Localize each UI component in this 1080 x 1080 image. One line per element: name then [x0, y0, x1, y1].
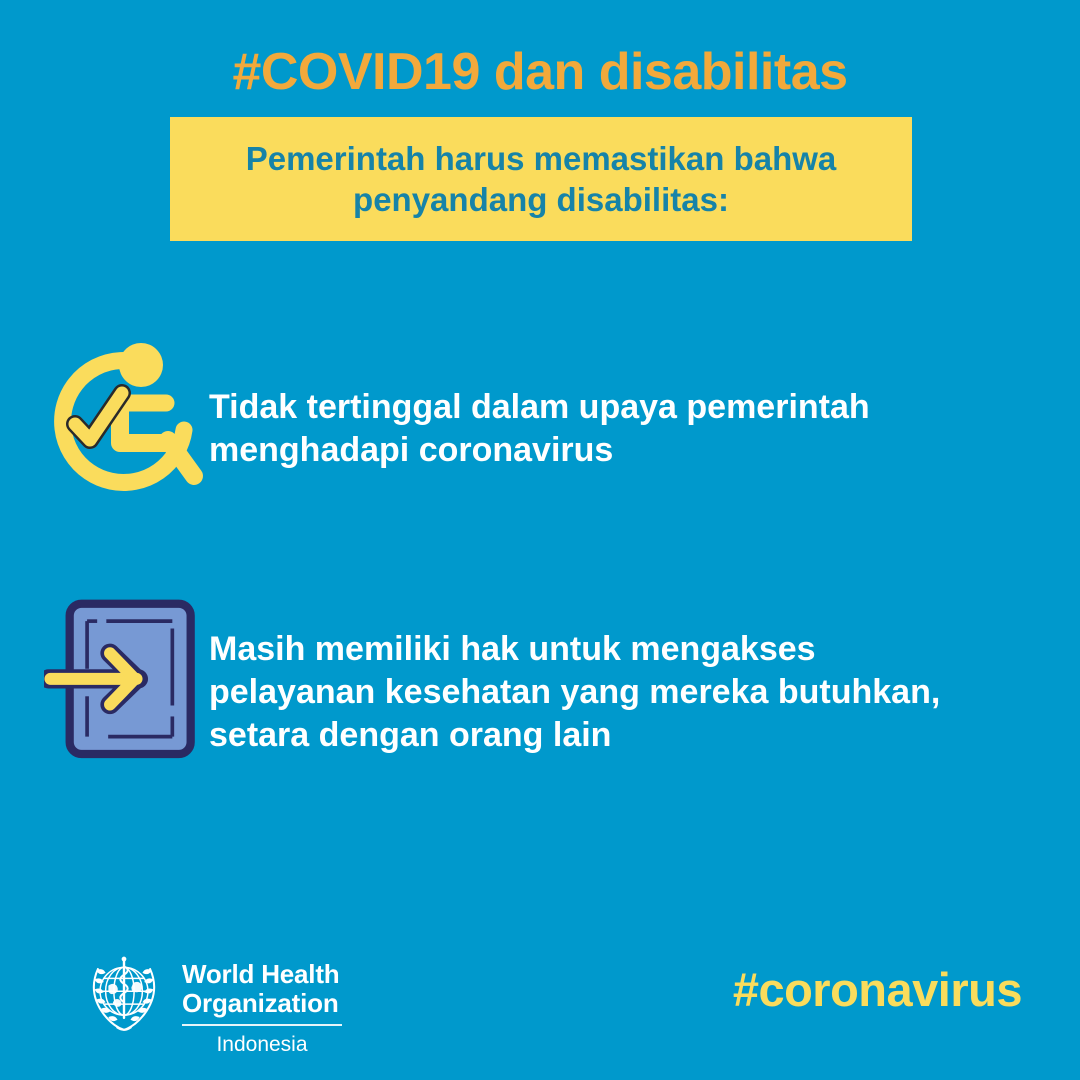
banner-line-2: penyandang disabilitas:: [353, 181, 729, 218]
page-title: #COVID19 dan disabilitas: [0, 40, 1080, 104]
bullet-1-line-1: Tidak tertinggal dalam upaya pemerintah: [209, 386, 870, 429]
who-logo-divider: [182, 1024, 342, 1026]
bullet-2-line-3: setara dengan orang lain: [209, 714, 940, 757]
door-entry-arrow-icon: [44, 580, 209, 775]
wheelchair-check-icon: [44, 340, 209, 495]
bullet-point-1: Tidak tertinggal dalam upaya pemerintah …: [44, 340, 1044, 495]
banner-line-1: Pemerintah harus memastikan bahwa: [246, 140, 837, 177]
subtitle-banner: Pemerintah harus memastikan bahwa penyan…: [170, 117, 912, 241]
bullet-1-line-2: menghadapi coronavirus: [209, 429, 870, 472]
infographic-poster: #COVID19 dan disabilitas Pemerintah haru…: [0, 0, 1080, 1080]
bullet-2-icon-slot: [44, 580, 209, 775]
who-logo: World Health Organization Indonesia: [78, 948, 342, 1057]
bullet-1-icon-slot: [44, 340, 209, 495]
who-country-label: Indonesia: [182, 1033, 342, 1057]
who-wordmark: World Health Organization Indonesia: [182, 948, 342, 1057]
hashtag-coronavirus: #coronavirus: [733, 962, 1022, 1017]
bullet-2-line-1: Masih memiliki hak untuk mengakses: [209, 628, 940, 671]
bullet-2-text: Masih memiliki hak untuk mengakses pelay…: [209, 580, 940, 757]
who-name-line-1: World Health: [182, 960, 342, 989]
who-name: World Health Organization: [182, 960, 342, 1018]
bullet-1-text: Tidak tertinggal dalam upaya pemerintah …: [209, 340, 870, 472]
who-un-emblem-icon: [78, 948, 170, 1040]
bullet-point-2: Masih memiliki hak untuk mengakses pelay…: [44, 580, 1054, 775]
who-name-line-2: Organization: [182, 989, 342, 1018]
subtitle-banner-text: Pemerintah harus memastikan bahwa penyan…: [170, 138, 912, 220]
bullet-2-line-2: pelayanan kesehatan yang mereka butuhkan…: [209, 671, 940, 714]
